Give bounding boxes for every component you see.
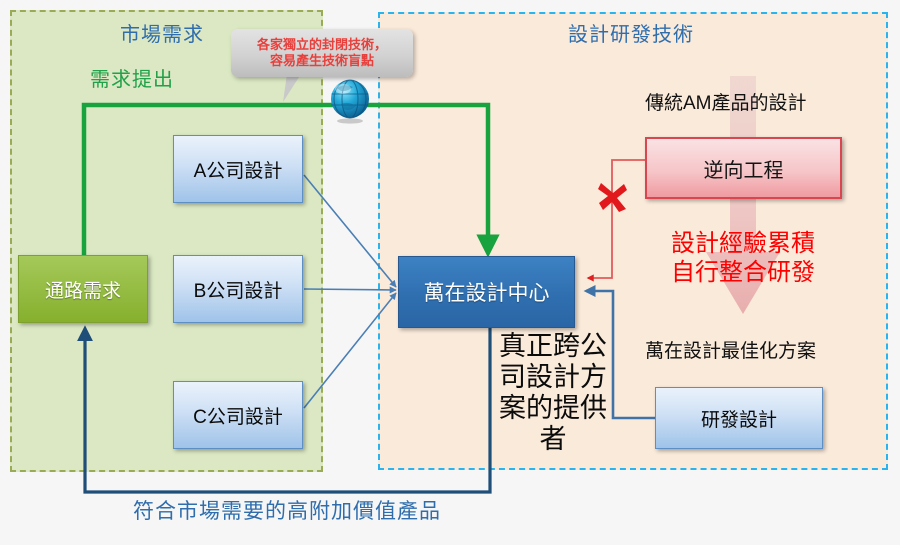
label-bottom-value-product: 符合市場需要的高附加價值產品 xyxy=(133,495,441,525)
connector-company-c-to-center xyxy=(304,293,396,408)
box-design-center[interactable]: 萬在設計中心 xyxy=(398,256,575,328)
callout-text: 各家獨立的封閉技術， 容易產生技術盲點 xyxy=(257,37,387,69)
connector-company-b-to-center xyxy=(304,289,396,290)
label-demand-submission: 需求提出 xyxy=(90,63,174,92)
label-cross-company-provider: 真正跨公司設計方案的提供者 xyxy=(492,331,614,455)
region-rd-title: 設計研發技術 xyxy=(568,18,694,47)
box-reverse-engineering[interactable]: 逆向工程 xyxy=(645,137,842,199)
label-design-experience: 設計經驗累積 自行整合研發 xyxy=(645,229,841,287)
label-best-solution: 萬在設計最佳化方案 xyxy=(645,336,816,363)
box-rd-design[interactable]: 研發設計 xyxy=(655,387,823,449)
red-x-icon xyxy=(596,180,630,214)
region-market-title: 市場需求 xyxy=(120,18,204,47)
box-channel-demand[interactable]: 通路需求 xyxy=(18,255,148,323)
box-company-b[interactable]: B公司設計 xyxy=(173,255,303,323)
diagram-canvas: 市場需求 設計研發技術 需求提出 通路需求 A公司設計 B公司設計 C公司設計 … xyxy=(0,0,900,545)
box-company-c[interactable]: C公司設計 xyxy=(173,381,303,449)
label-traditional-am: 傳統AM產品的設計 xyxy=(645,88,807,115)
box-company-a[interactable]: A公司設計 xyxy=(173,135,303,203)
callout-bubble: 各家獨立的封閉技術， 容易產生技術盲點 xyxy=(231,29,413,77)
connector-reverse-engineering-blocked xyxy=(588,160,645,278)
big-down-arrow-icon xyxy=(700,76,786,336)
callout-tail-icon xyxy=(283,74,317,102)
connector-company-a-to-center xyxy=(304,175,396,287)
globe-icon xyxy=(327,78,373,124)
